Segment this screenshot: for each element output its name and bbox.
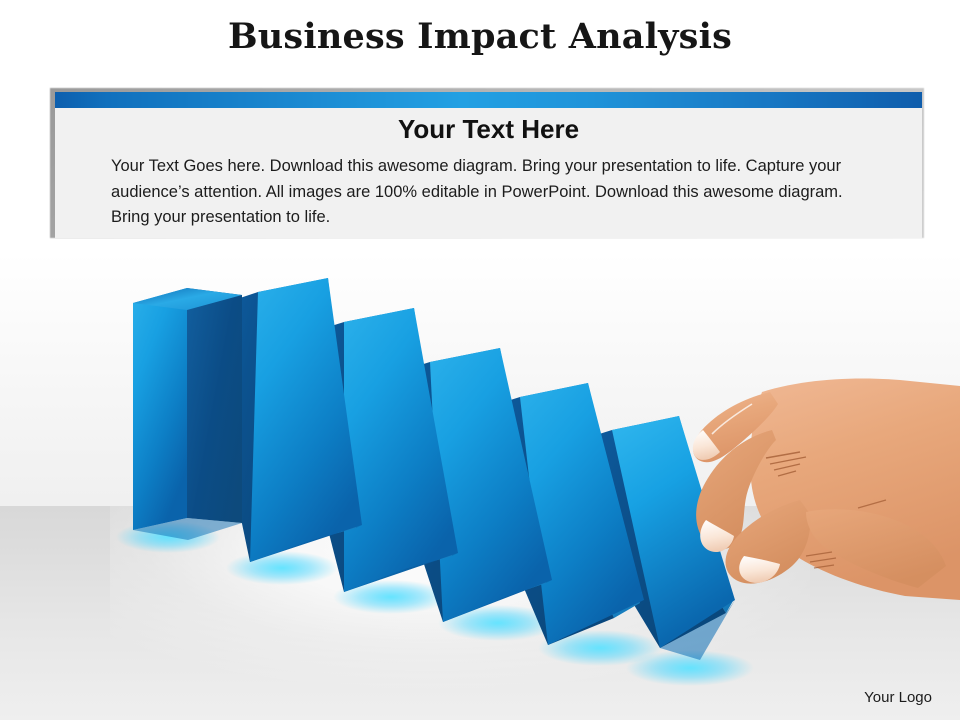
slide-canvas: Business Impact Analysis Your Text Here … [0,0,960,720]
domino-1-upright [133,288,242,540]
logo-placeholder: Your Logo [864,689,932,706]
domino-illustration [0,0,960,720]
hand-pushing-domino [693,379,960,601]
